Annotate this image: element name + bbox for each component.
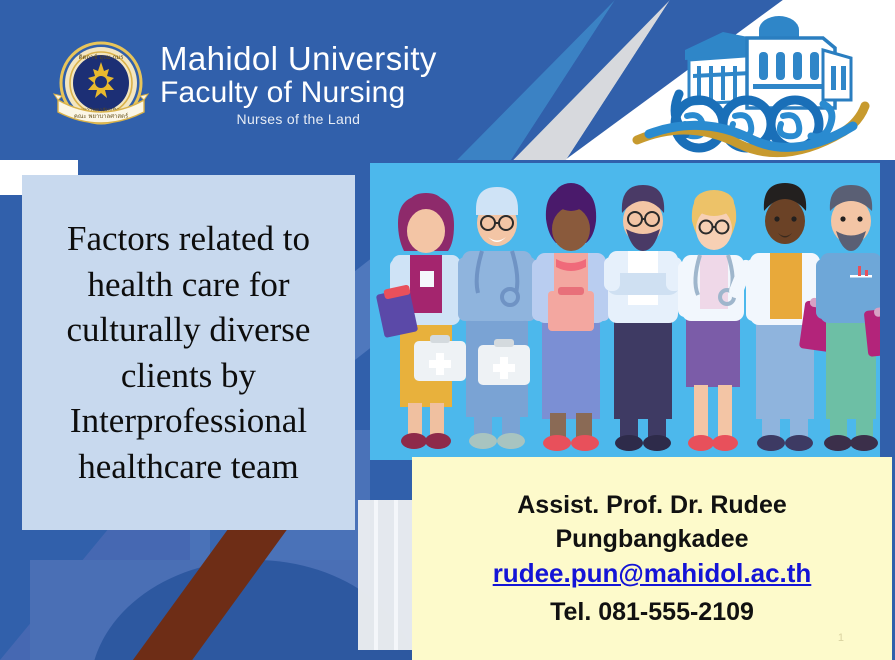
- university-name: Mahidol University: [160, 42, 437, 76]
- svg-text:คณะ พยาบาลศาสตร์: คณะ พยาบาลศาสตร์: [74, 112, 129, 120]
- title-line: Factors related to: [67, 216, 311, 262]
- title-line: healthcare team: [67, 444, 311, 490]
- presenter-contact-card: Assist. Prof. Dr. Rudee Pungbangkadee ru…: [412, 457, 892, 660]
- presentation-slide: ดิตถาช์ อุบม กมร มหาวิทยาลัยมหิดล คณะ พย…: [0, 0, 895, 660]
- title-line: Interprofessional: [67, 398, 311, 444]
- page-number: 1: [838, 632, 844, 644]
- page-title: Factors related to health care for cultu…: [53, 216, 325, 489]
- faculty-name: Faculty of Nursing: [160, 76, 437, 111]
- interprofessional-healthcare-team-illustration: [370, 163, 880, 460]
- presenter-name-line1: Assist. Prof. Dr. Rudee: [517, 489, 787, 521]
- title-line: health care for: [67, 262, 311, 308]
- institution-titles: Mahidol University Faculty of Nursing Nu…: [160, 42, 437, 127]
- presenter-email-link[interactable]: rudee.pun@mahidol.ac.th: [493, 557, 812, 590]
- title-line: culturally diverse: [67, 307, 311, 353]
- svg-text:ดิตถาช์ อุบม กมร: ดิตถาช์ อุบม กมร: [78, 53, 124, 61]
- anniversary-building-emblem-icon: [627, 8, 877, 158]
- faculty-tagline: Nurses of the Land: [160, 111, 437, 127]
- presenter-phone: Tel. 081-555-2109: [550, 596, 754, 629]
- presenter-name-line2: Pungbangkadee: [555, 523, 748, 555]
- slide-header: ดิตถาช์ อุบม กมร มหาวิทยาลัยมหิดล คณะ พย…: [0, 0, 895, 160]
- title-line: clients by: [67, 353, 311, 399]
- slide-title-card: Factors related to health care for cultu…: [22, 175, 355, 530]
- mahidol-seal-icon: ดิตถาช์ อุบม กมร มหาวิทยาลัยมหิดล คณะ พย…: [52, 38, 150, 136]
